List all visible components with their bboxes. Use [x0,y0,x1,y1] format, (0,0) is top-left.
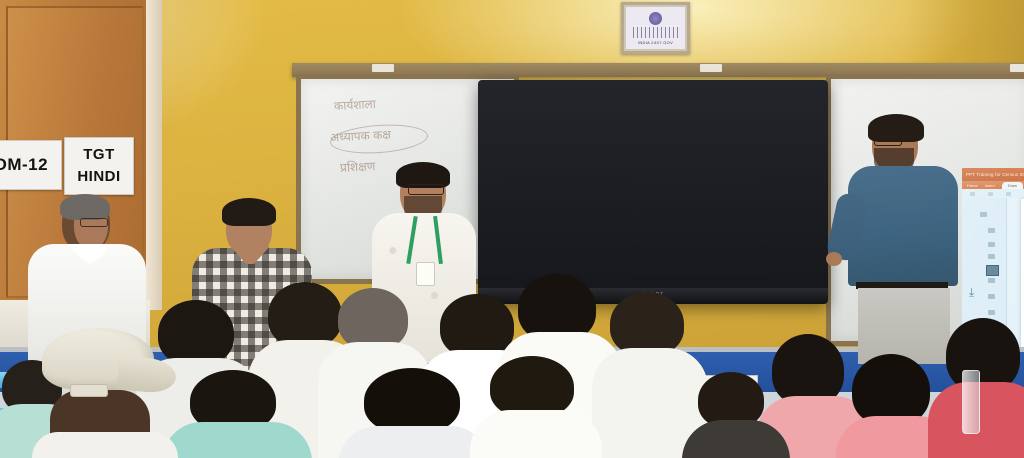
ribbon-tab-bar[interactable]: Home Insert Draw Design Animate Slidesho… [962,181,1024,189]
document-title: PPT Training for Census 2027 [966,172,1024,177]
audience-member [348,368,478,458]
shoulders [470,410,602,458]
tool-icon[interactable] [988,192,993,196]
thumbnail-marker[interactable] [988,294,995,299]
thumbnail-marker[interactable] [988,254,995,259]
whiteboard-note-1: कार्यशाला [334,95,377,114]
door-frame [146,0,162,310]
audience-member [176,370,296,458]
shoulders-dark [682,420,790,458]
id-badge [416,262,435,286]
head-back [490,356,574,418]
whiteboard-clip [372,64,394,72]
thumbnail-marker[interactable] [980,212,987,217]
selected-thumbnail[interactable] [986,265,999,276]
interactive-flat-panel[interactable]: PPT Training for Census 2027 PIN Code: 9… [478,80,828,302]
whiteboard-note-3: प्रशिक्षण [340,157,376,176]
room-number-sign: OOM-12 [0,140,62,190]
thumbnail-marker[interactable] [988,310,995,315]
audience-member [478,356,590,458]
plaque-caption: INDIA 24X7 GOV [638,40,673,45]
subject-sign-line1: TGT [83,144,115,167]
wall-plaque-content: INDIA 24X7 GOV [626,7,685,49]
head-back [440,294,514,358]
hair [222,198,276,226]
glasses-icon [80,218,108,227]
audience-member [690,372,778,458]
tab-insert[interactable]: Insert [985,183,995,188]
shoulders [338,426,490,458]
tab-home[interactable]: Home [967,183,978,188]
glasses-icon [874,136,902,146]
whiteboard-clip [700,64,722,72]
glasses-icon [408,184,444,195]
cap-brim [116,355,177,395]
whiteboard-clip [1010,64,1024,72]
thumbnail-marker[interactable] [988,242,995,247]
torso-blue-shirt [848,166,958,286]
plaque-emblem-icon [649,12,662,25]
thumbnail-marker[interactable] [988,278,995,283]
cap-strap [70,384,108,397]
head-back-long-hair [946,318,1020,392]
tool-strip[interactable] [962,189,1024,198]
head-back-grey-hair [338,288,408,350]
audience-member-female [936,318,1024,458]
classroom-training-photo: OOM-12 TGT HINDI INDIA 24X7 GOV कार्यशाल… [0,0,1024,458]
subject-sign: TGT HINDI [64,137,134,195]
whiteboard-note-2: अध्यापक कक्ष [330,125,392,145]
tool-icon[interactable] [1006,192,1011,196]
tool-icon[interactable] [970,192,975,196]
head-back [364,368,460,434]
audience-member [602,292,694,458]
app-title-bar: PPT Training for Census 2027 PIN Code: 9… [962,168,1024,181]
tab-draw[interactable]: Draw [1002,182,1023,189]
thumbnail-marker[interactable] [988,228,995,233]
subject-sign-line2: HINDI [77,166,120,189]
head-back [610,292,684,356]
hand [826,252,842,266]
room-number-text: OOM-12 [0,155,48,175]
download-icon[interactable]: ⤓ [969,286,981,300]
plaque-text-lines [633,27,679,38]
wall-plaque-frame: INDIA 24X7 GOV [621,2,690,54]
water-bottle [962,370,980,434]
audience-member-with-cap [26,328,186,458]
hair [60,194,110,220]
shoulders [32,432,178,458]
